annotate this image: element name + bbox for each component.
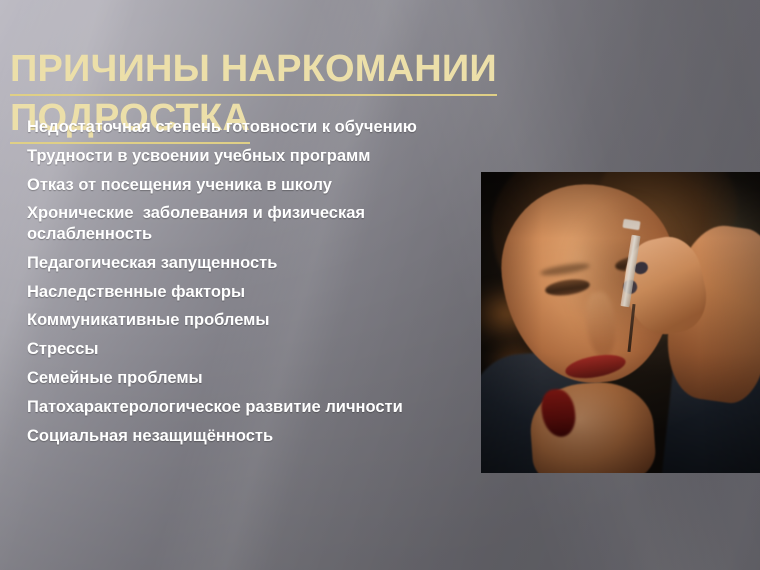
title-line-1: ПРИЧИНЫ НАРКОМАНИИ — [10, 47, 610, 95]
list-item: Наследственные факторы — [27, 282, 477, 303]
list-item: Отказ от посещения ученика в школу — [27, 175, 477, 196]
list-item: Хронические заболевания и физическая осл… — [27, 203, 477, 245]
list-item: Педагогическая запущенность — [27, 253, 477, 274]
list-item: Социальная незащищённость — [27, 426, 477, 447]
list-item: Стрессы — [27, 339, 477, 360]
list-item: Коммуникативные проблемы — [27, 310, 477, 331]
photo-composition — [481, 172, 760, 473]
list-item: Семейные проблемы — [27, 368, 477, 389]
title-line-1-text: ПРИЧИНЫ НАРКОМАНИИ — [10, 47, 497, 95]
list-item: Недостаточная степень готовности к обуче… — [27, 117, 477, 138]
list-item: Патохарактерологическое развитие личност… — [27, 397, 477, 418]
photo-young-woman-with-syringe — [481, 172, 760, 473]
list-item: Трудности в усвоении учебных программ — [27, 146, 477, 167]
presentation-slide: ПРИЧИНЫ НАРКОМАНИИ ПОДРОСТКА Недостаточн… — [0, 0, 760, 570]
bullet-list: Недостаточная степень готовности к обуче… — [27, 117, 477, 454]
photo-edge-darkening — [481, 172, 760, 473]
